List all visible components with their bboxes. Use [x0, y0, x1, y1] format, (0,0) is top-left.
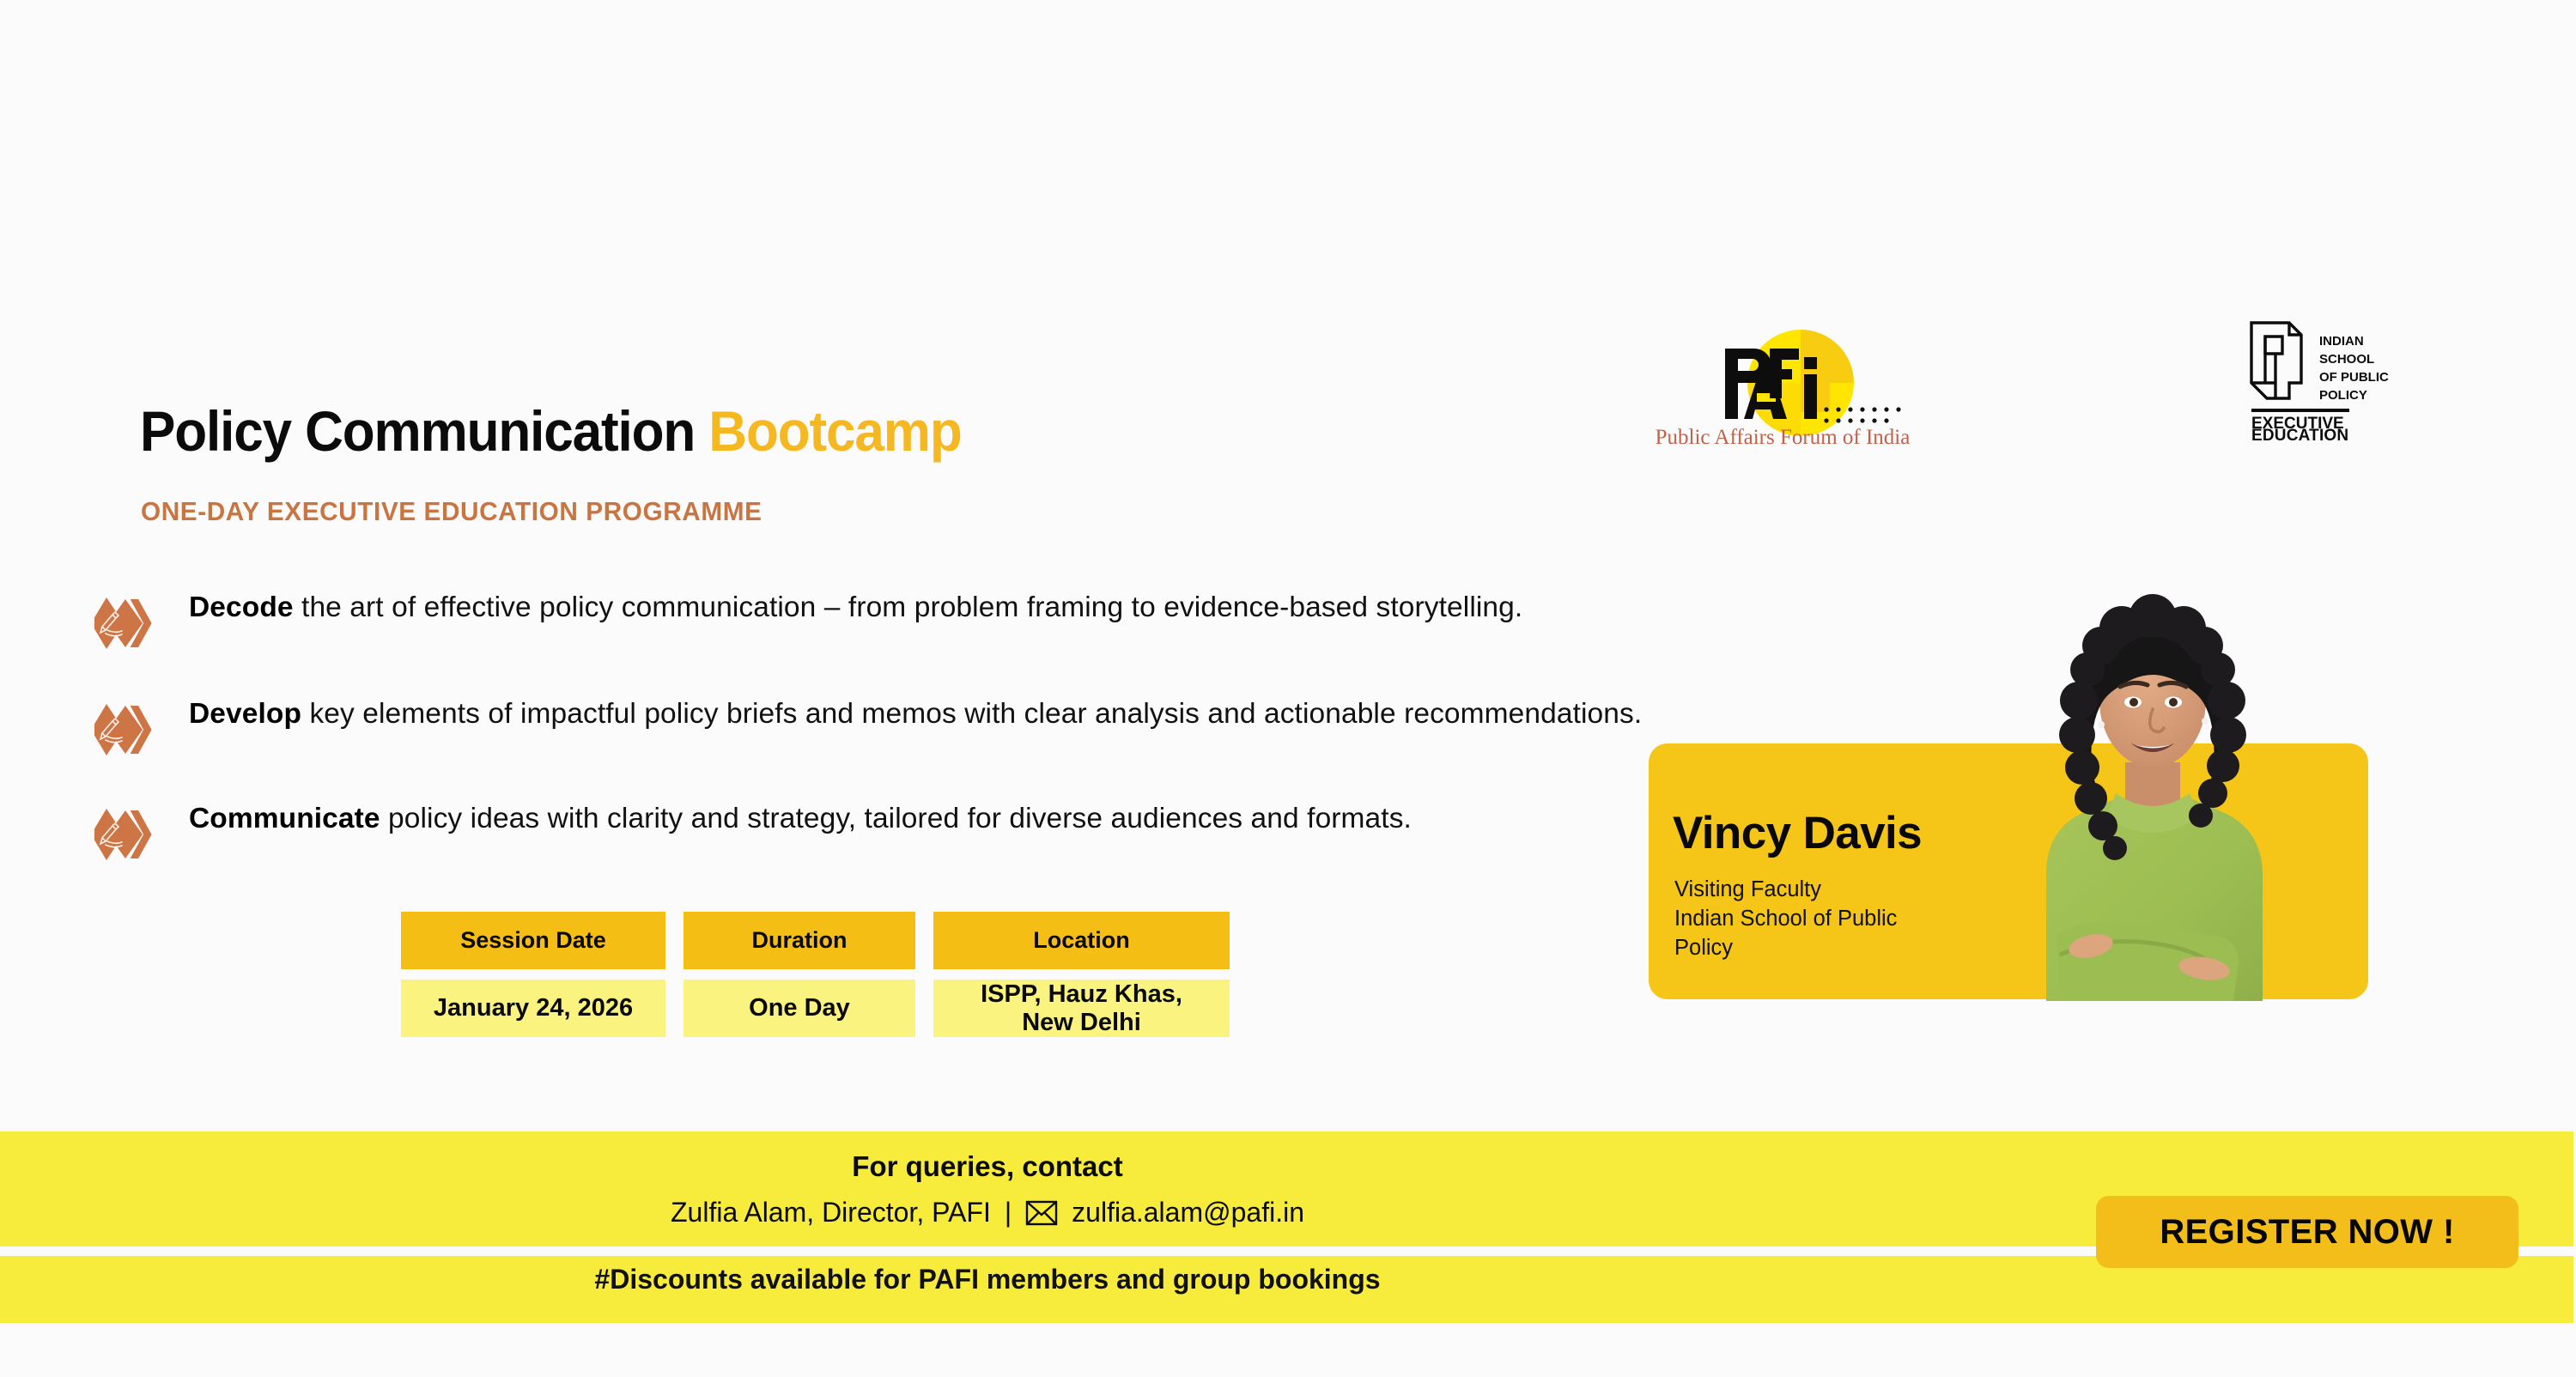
avatar	[2005, 591, 2301, 1001]
ispp-tag2: EDUCATION	[2251, 427, 2348, 446]
page-title: Policy Communication Bootcamp	[140, 398, 962, 464]
list-item-rest: key elements of impactful policy briefs …	[301, 698, 1642, 730]
table-cell-session-date: January 24, 2026	[401, 980, 665, 1037]
footer-separator: |	[1005, 1197, 1012, 1228]
diamond-quill-chevron-icon	[94, 592, 167, 654]
envelope-icon	[1025, 1200, 1058, 1226]
speaker-name: Vincy Davis	[1673, 807, 1922, 859]
diamond-quill-chevron-icon	[94, 804, 167, 865]
footer-discount-note: #Discounts available for PAFI members an…	[0, 1264, 1975, 1295]
table-cell-duration: One Day	[683, 980, 915, 1037]
pafi-wordmark: Public Affairs Forum of India	[1649, 426, 1916, 450]
footer-queries-heading: For queries, contact	[0, 1150, 1975, 1183]
footer-contact-line: Zulfia Alam, Director, PAFI | zulfia.ala…	[0, 1197, 1975, 1228]
ispp-line2: SCHOOL	[2319, 352, 2374, 367]
list-item-lead: Develop	[189, 698, 301, 730]
list-item-rest: policy ideas with clarity and strategy, …	[380, 803, 1412, 834]
table-header-session-date: Session Date	[401, 912, 665, 969]
list-item: Communicate policy ideas with clarity an…	[94, 800, 1412, 865]
diamond-quill-chevron-icon	[94, 699, 167, 761]
list-item-lead: Communicate	[189, 803, 380, 834]
speaker-role: Visiting Faculty Indian School of Public…	[1674, 876, 1897, 963]
list-item: Decode the art of effective policy commu…	[94, 589, 1522, 654]
table-header-location: Location	[933, 912, 1230, 969]
ispp-logo: INDIAN SCHOOL OF PUBLIC POLICY EXECUTIVE	[2239, 316, 2454, 436]
title-accent-text: Bootcamp	[708, 399, 961, 463]
list-item-text: Develop key elements of impactful policy…	[189, 695, 1642, 732]
list-item-text: Decode the art of effective policy commu…	[189, 589, 1522, 626]
page-subtitle: ONE-DAY EXECUTIVE EDUCATION PROGRAMME	[141, 496, 762, 527]
title-main-text: Policy Communication	[140, 399, 708, 463]
footer-contact-name: Zulfia Alam, Director, PAFI	[671, 1197, 991, 1228]
table-header-duration: Duration	[683, 912, 915, 969]
table-cell-location: ISPP, Hauz Khas, New Delhi	[933, 980, 1230, 1037]
session-info-table: Session Date Duration Location January 2…	[401, 912, 1230, 1037]
list-item: Develop key elements of impactful policy…	[94, 695, 1642, 761]
ispp-line1: INDIAN	[2319, 334, 2364, 349]
list-item-rest: the art of effective policy communicatio…	[294, 591, 1523, 623]
list-item-text: Communicate policy ideas with clarity an…	[189, 800, 1412, 837]
list-item-lead: Decode	[189, 591, 294, 623]
table-row: January 24, 2026 One Day ISPP, Hauz Khas…	[401, 980, 1230, 1037]
ispp-line3: OF PUBLIC	[2319, 370, 2389, 385]
ispp-line4: POLICY	[2319, 388, 2367, 403]
table-header-row: Session Date Duration Location	[401, 912, 1230, 969]
register-now-button[interactable]: REGISTER NOW !	[2096, 1196, 2518, 1268]
poster-canvas: Policy Communication Bootcamp ONE-DAY EX…	[0, 0, 2576, 1377]
footer-email[interactable]: zulfia.alam@pafi.in	[1072, 1197, 1304, 1228]
